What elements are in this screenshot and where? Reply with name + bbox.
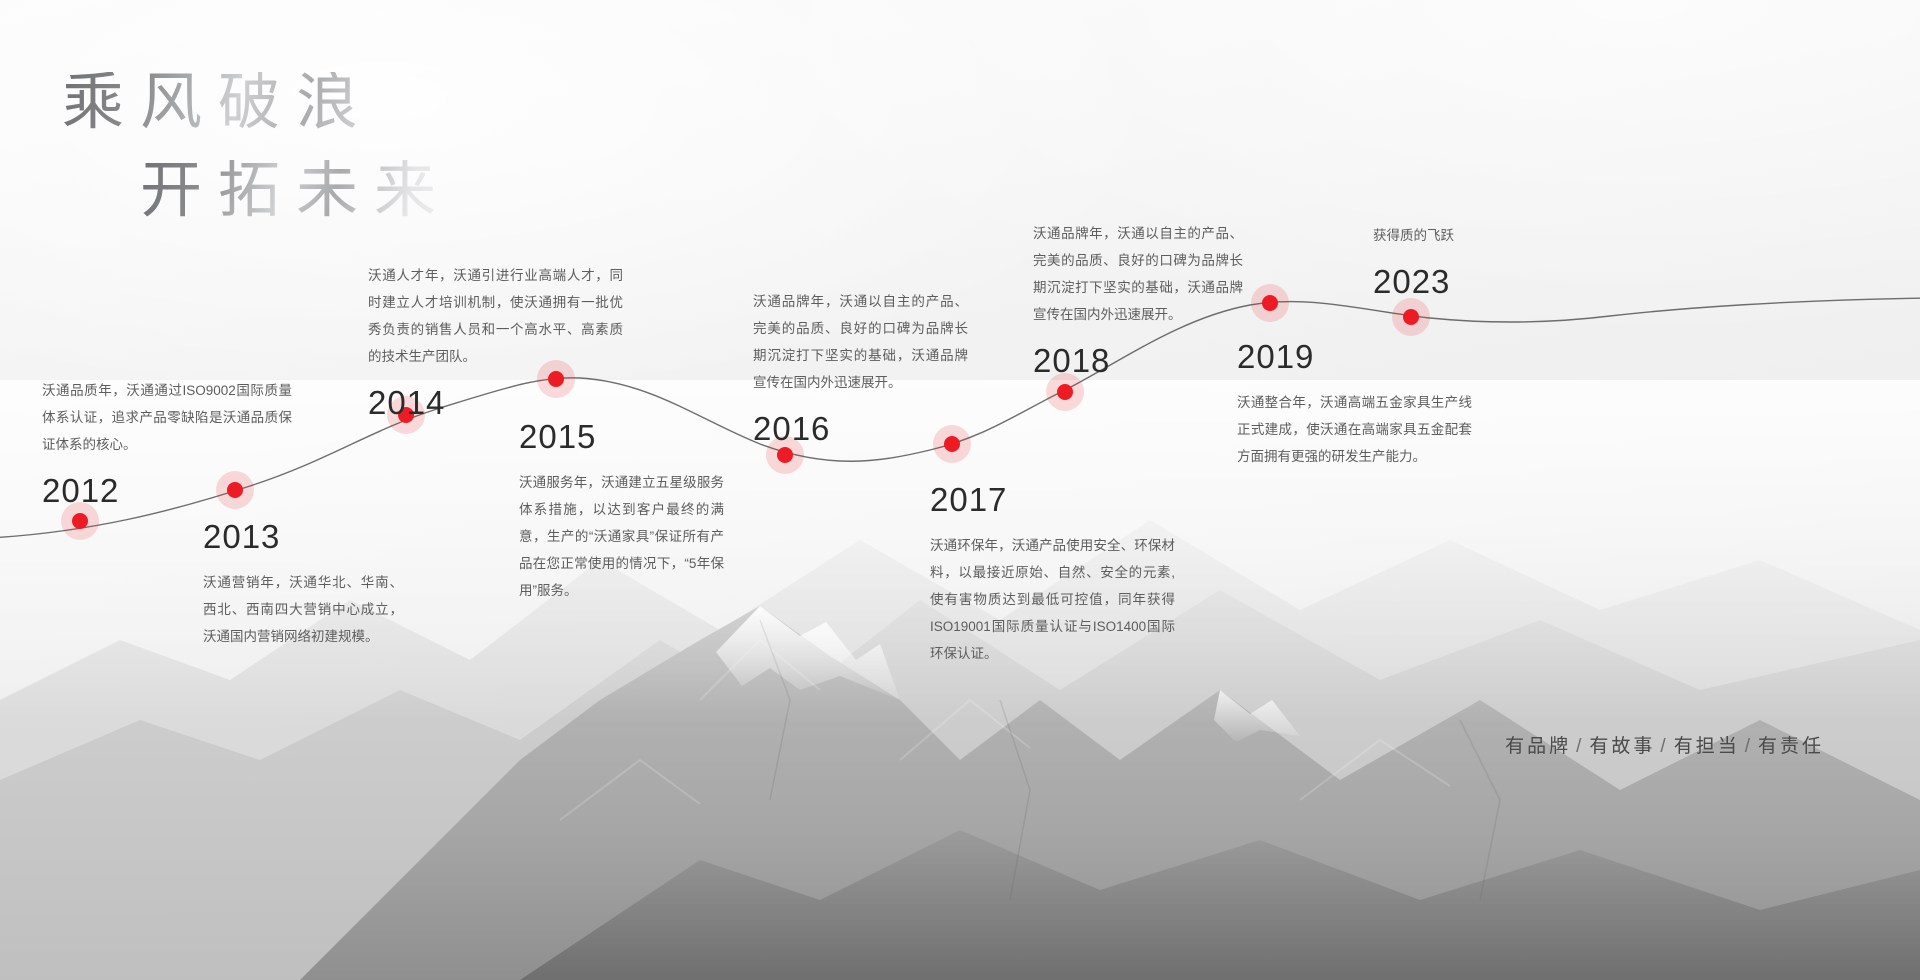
milestone-2018[interactable]: 沃通品牌年，沃通以自主的产品、完美的品质、良好的口碑为品牌长期沉淀打下坚实的基础… (1033, 220, 1243, 377)
milestone-description: 沃通人才年，沃通引进行业高端人才，同时建立人才培训机制，使沃通拥有一批优秀负责的… (368, 262, 623, 370)
timeline-node-dot (1057, 384, 1073, 400)
milestone-year: 2014 (368, 386, 623, 419)
milestone-year: 2019 (1237, 340, 1472, 373)
milestone-year: 2018 (1033, 344, 1243, 377)
milestone-2017[interactable]: 2017沃通环保年，沃通产品使用安全、环保材料，以最接近原始、自然、安全的元素,… (930, 483, 1175, 667)
milestone-year: 2012 (42, 474, 292, 507)
timeline-node-2015[interactable] (537, 360, 575, 398)
milestone-year: 2017 (930, 483, 1175, 516)
timeline-node-dot (548, 371, 564, 387)
timeline-node-dot (1403, 309, 1419, 325)
milestone-description: 沃通环保年，沃通产品使用安全、环保材料，以最接近原始、自然、安全的元素,使有害物… (930, 532, 1175, 667)
milestone-description: 获得质的飞跃 (1373, 222, 1573, 249)
milestone-2023[interactable]: 获得质的飞跃2023 (1373, 222, 1573, 298)
poster-canvas: 乘风破浪 开拓未来 沃通品质年，沃通通过ISO9002国际质量体系认证，追求产品… (0, 0, 1920, 980)
tagline-separator: / (1740, 736, 1758, 757)
timeline-node-dot (1262, 295, 1278, 311)
milestone-description: 沃通服务年，沃通建立五星级服务体系措施，以达到客户最终的满意，生产的“沃通家具”… (519, 469, 724, 604)
tagline-item: 有故事 (1589, 736, 1655, 757)
timeline-node-dot (777, 447, 793, 463)
milestone-description: 沃通品牌年，沃通以自主的产品、完美的品质、良好的口碑为品牌长期沉淀打下坚实的基础… (753, 288, 968, 396)
milestone-2016[interactable]: 沃通品牌年，沃通以自主的产品、完美的品质、良好的口碑为品牌长期沉淀打下坚实的基础… (753, 288, 968, 445)
timeline-node-2017[interactable] (933, 425, 971, 463)
milestone-2013[interactable]: 2013沃通营销年，沃通华北、华南、西北、西南四大营销中心成立，沃通国内营销网络… (203, 520, 403, 650)
milestone-description: 沃通整合年，沃通高端五金家具生产线正式建成，使沃通在高端家具五金配套方面拥有更强… (1237, 389, 1472, 470)
milestone-2015[interactable]: 2015沃通服务年，沃通建立五星级服务体系措施，以达到客户最终的满意，生产的“沃… (519, 420, 724, 604)
tagline-item: 有品牌 (1505, 736, 1571, 757)
tagline-item: 有责任 (1758, 736, 1824, 757)
timeline-node-dot (72, 513, 88, 529)
tagline-item: 有担当 (1674, 736, 1740, 757)
milestone-description: 沃通品牌年，沃通以自主的产品、完美的品质、良好的口碑为品牌长期沉淀打下坚实的基础… (1033, 220, 1243, 328)
milestone-description: 沃通营销年，沃通华北、华南、西北、西南四大营销中心成立，沃通国内营销网络初建规模… (203, 569, 403, 650)
milestone-year: 2013 (203, 520, 403, 553)
milestone-2012[interactable]: 沃通品质年，沃通通过ISO9002国际质量体系认证，追求产品零缺陷是沃通品质保证… (42, 377, 292, 507)
timeline-node-dot (227, 482, 243, 498)
tagline-separator: / (1571, 736, 1589, 757)
milestone-description: 沃通品质年，沃通通过ISO9002国际质量体系认证，追求产品零缺陷是沃通品质保证… (42, 377, 292, 458)
milestone-2019[interactable]: 2019沃通整合年，沃通高端五金家具生产线正式建成，使沃通在高端家具五金配套方面… (1237, 340, 1472, 470)
timeline-node-dot (944, 436, 960, 452)
timeline-node-2013[interactable] (216, 471, 254, 509)
milestone-2014[interactable]: 沃通人才年，沃通引进行业高端人才，同时建立人才培训机制，使沃通拥有一批优秀负责的… (368, 262, 623, 419)
timeline-node-2019[interactable] (1251, 284, 1289, 322)
footer-tagline: 有品牌/有故事/有担当/有责任 (1505, 731, 1824, 758)
milestone-year: 2015 (519, 420, 724, 453)
milestone-year: 2023 (1373, 265, 1573, 298)
tagline-separator: / (1655, 736, 1673, 757)
timeline-node-2023[interactable] (1392, 298, 1430, 336)
